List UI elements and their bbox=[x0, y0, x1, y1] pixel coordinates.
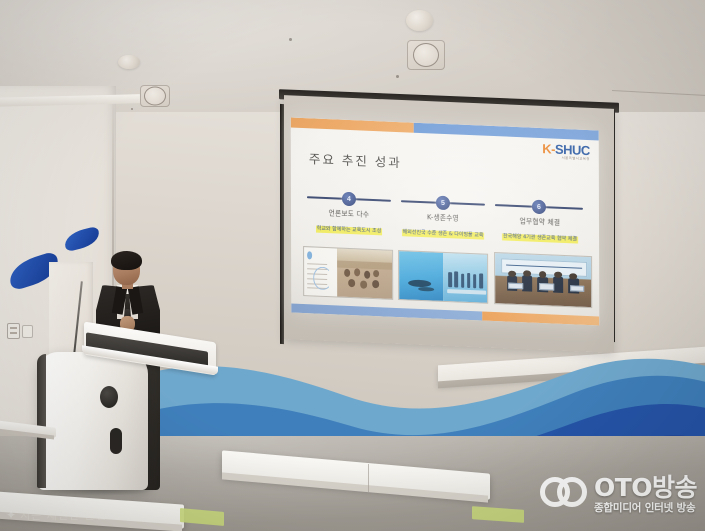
step-badge-6: 6 bbox=[532, 200, 546, 215]
slide-thumbnail-2 bbox=[398, 250, 488, 304]
power-outlet-icon bbox=[7, 323, 20, 339]
ceiling-vent-icon bbox=[407, 40, 445, 70]
step-badge-4: 4 bbox=[342, 192, 356, 207]
podium-trim bbox=[37, 354, 46, 488]
column-highlight: 학교와 함께하는 교육도시 조성 bbox=[316, 226, 383, 236]
ceiling-speck bbox=[289, 38, 292, 41]
thumbnail-document bbox=[304, 247, 338, 296]
wall-switch-icon bbox=[22, 325, 33, 338]
column-highlight: 해외선진국 수준 생존 & 다이빙풀 교육 bbox=[402, 229, 485, 239]
oto-rings-icon bbox=[540, 477, 587, 510]
slide-column-6: 업무협약 체결 한국해양 4기관 생존교육 협약 체결 bbox=[490, 214, 590, 246]
ceiling-speck bbox=[131, 108, 133, 110]
logo-tagline: 서울특별시교육청 bbox=[542, 156, 590, 161]
podium-speaker-grille-icon bbox=[100, 386, 118, 408]
projection-screen: K-SHUC 서울특별시교육청 주요 추진 성과 4 5 6 언론보도 다수 학… bbox=[279, 96, 623, 352]
slide-thumbnail-1 bbox=[303, 246, 393, 300]
broadcaster-tagline: 종합미디어 인터넷 방송 bbox=[594, 503, 697, 514]
podium-vent-slot bbox=[110, 428, 122, 454]
column-heading: K-생존수영 bbox=[395, 210, 491, 224]
broadcaster-name: OTO방송 bbox=[594, 475, 697, 500]
side-table bbox=[0, 424, 56, 458]
k-shuc-logo: K-SHUC 서울특별시교육청 bbox=[542, 142, 590, 161]
slide-column-4: 언론보도 다수 학교와 함께하는 교육도시 조성 bbox=[301, 206, 397, 238]
presentation-slide: K-SHUC 서울특별시교육청 주요 추진 성과 4 5 6 언론보도 다수 학… bbox=[291, 118, 600, 326]
thumbnail-pool-left bbox=[399, 251, 443, 301]
thumbnail-classroom-photo bbox=[338, 248, 393, 298]
photo-scene: K-SHUC 서울특별시교육청 주요 추진 성과 4 5 6 언론보도 다수 학… bbox=[0, 0, 705, 531]
logo-k-text: K- bbox=[542, 141, 555, 157]
podium bbox=[38, 330, 220, 490]
ceiling-speck bbox=[396, 75, 399, 78]
column-highlight: 한국해양 4기관 생존교육 협약 체결 bbox=[502, 233, 578, 243]
overlay-watermark-text: 시즌 새신한 콘텐츠 bbox=[20, 507, 118, 523]
ceiling-vent-icon bbox=[140, 85, 170, 107]
slide-thumbnail-3 bbox=[494, 252, 592, 308]
ceiling-downlight-icon bbox=[406, 10, 433, 31]
column-heading: 언론보도 다수 bbox=[301, 206, 397, 220]
sparkle-icon: ✦ bbox=[6, 508, 16, 522]
podium-body bbox=[38, 352, 148, 490]
presenter-hair bbox=[111, 251, 142, 270]
column-heading: 업무협약 체결 bbox=[490, 214, 590, 228]
ceiling-downlight-icon bbox=[118, 55, 140, 69]
broadcaster-watermark: OTO방송 종합미디어 인터넷 방송 bbox=[540, 475, 697, 514]
overlay-watermark: ✦ 시즌 새신한 콘텐츠 bbox=[6, 507, 118, 523]
slide-title: 주요 추진 성과 bbox=[309, 148, 402, 171]
front-table-center bbox=[222, 462, 490, 502]
step-badge-5: 5 bbox=[436, 196, 450, 211]
slide-column-5: K-생존수영 해외선진국 수준 생존 & 다이빙풀 교육 bbox=[395, 210, 491, 242]
